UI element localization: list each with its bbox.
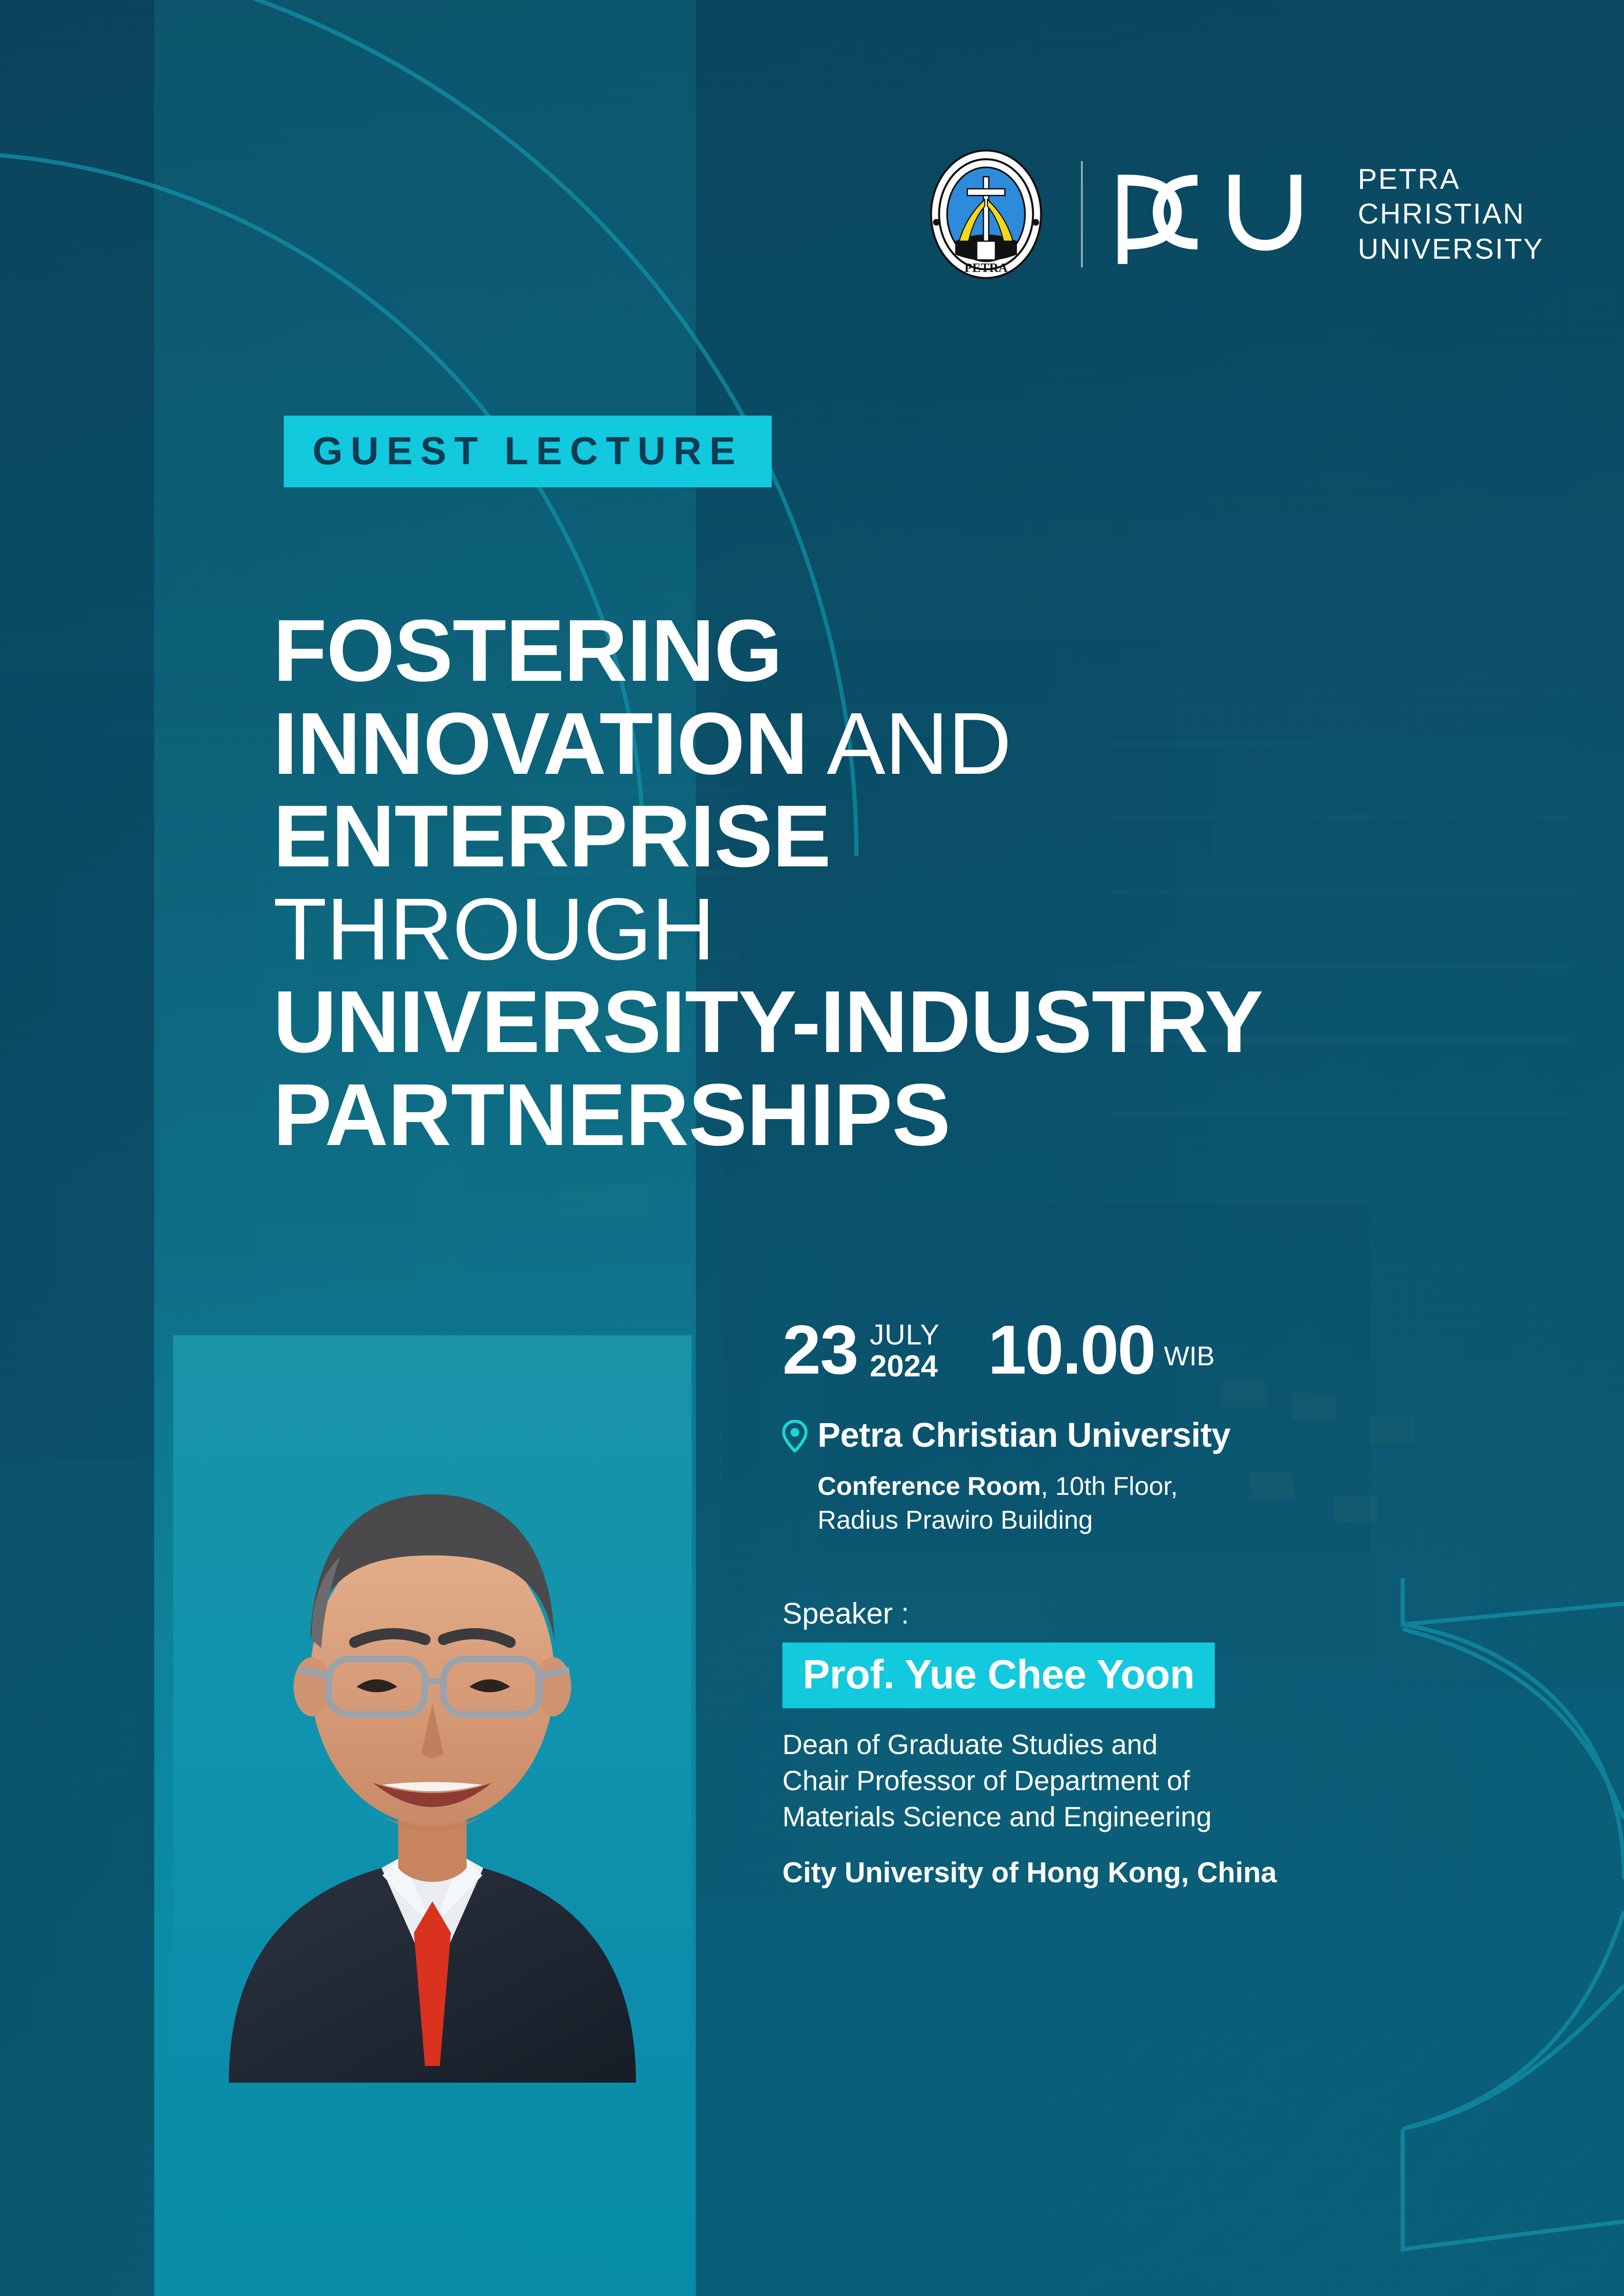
- guest-lecture-badge: GUEST LECTURE: [284, 416, 772, 487]
- event-timezone: WIB: [1164, 1341, 1215, 1372]
- speaker-label: Speaker :: [782, 1596, 1505, 1630]
- pcu-wordmark-text: PETRA CHRISTIAN UNIVERSITY: [1358, 162, 1544, 267]
- pcu-word-christian: CHRISTIAN: [1358, 197, 1544, 232]
- venue-name: Petra Christian University: [818, 1417, 1230, 1453]
- event-info: 23 JULY 2024 10.00 WIB Petra Christian U…: [782, 1317, 1505, 1889]
- event-month-year: JULY 2024: [870, 1320, 940, 1382]
- speaker-role: Dean of Graduate Studies and Chair Profe…: [782, 1727, 1505, 1835]
- speaker-role-line-3: Materials Science and Engineering: [782, 1799, 1505, 1835]
- event-year: 2024: [870, 1350, 940, 1381]
- event-time-row: 10.00 WIB: [988, 1317, 1215, 1383]
- speaker-affiliation: City University of Hong Kong, China: [782, 1856, 1505, 1889]
- title-line-6: PARTNERSHIPS: [273, 1069, 1430, 1161]
- event-time: 10.00: [988, 1317, 1155, 1383]
- petra-seal-icon: PETRA: [919, 147, 1053, 281]
- title-line-4: THROUGH: [273, 883, 1430, 976]
- date-time-row: 23 JULY 2024 10.00 WIB: [782, 1317, 1505, 1383]
- speaker-role-line-2: Chair Professor of Department of: [782, 1763, 1505, 1799]
- venue-room: Conference Room: [818, 1471, 1041, 1500]
- event-month: JULY: [870, 1320, 940, 1350]
- venue-row: Petra Christian University: [782, 1417, 1505, 1453]
- speaker-name: Prof. Yue Chee Yoon: [782, 1643, 1215, 1708]
- pcu-word-university: UNIVERSITY: [1358, 232, 1544, 267]
- speaker-photo: [173, 1335, 692, 2083]
- logo-divider: [1081, 161, 1083, 268]
- event-day: 23: [782, 1317, 858, 1383]
- title-line-3: ENTERPRISE: [273, 790, 1430, 883]
- venue-details: Conference Room, 10th Floor, Radius Praw…: [818, 1469, 1505, 1537]
- poster-canvas: PETRA PETRA CHRISTIAN UNIVERSITY GUEST L…: [0, 0, 1624, 2296]
- title-line-1: FOSTERING: [273, 604, 1430, 697]
- venue-building: Radius Prawiro Building: [818, 1503, 1505, 1537]
- location-pin-icon: [782, 1420, 807, 1452]
- title-innovation: INNOVATION: [273, 695, 808, 793]
- pcu-logo-icon: [1111, 160, 1310, 269]
- title-and: AND: [808, 695, 1011, 793]
- header-logo-row: PETRA PETRA CHRISTIAN UNIVERSITY: [919, 147, 1544, 281]
- title-line-2: INNOVATION AND: [273, 697, 1430, 790]
- speaker-role-line-1: Dean of Graduate Studies and: [782, 1727, 1505, 1763]
- pcu-word-petra: PETRA: [1358, 162, 1544, 197]
- page-title: FOSTERING INNOVATION AND ENTERPRISE THRO…: [273, 604, 1430, 1161]
- title-line-5: UNIVERSITY-INDUSTRY: [273, 976, 1430, 1068]
- speaker-portrait-illustration: [173, 1335, 692, 2083]
- seal-bottom-text: PETRA: [964, 261, 1007, 275]
- venue-floor: , 10th Floor,: [1041, 1471, 1178, 1500]
